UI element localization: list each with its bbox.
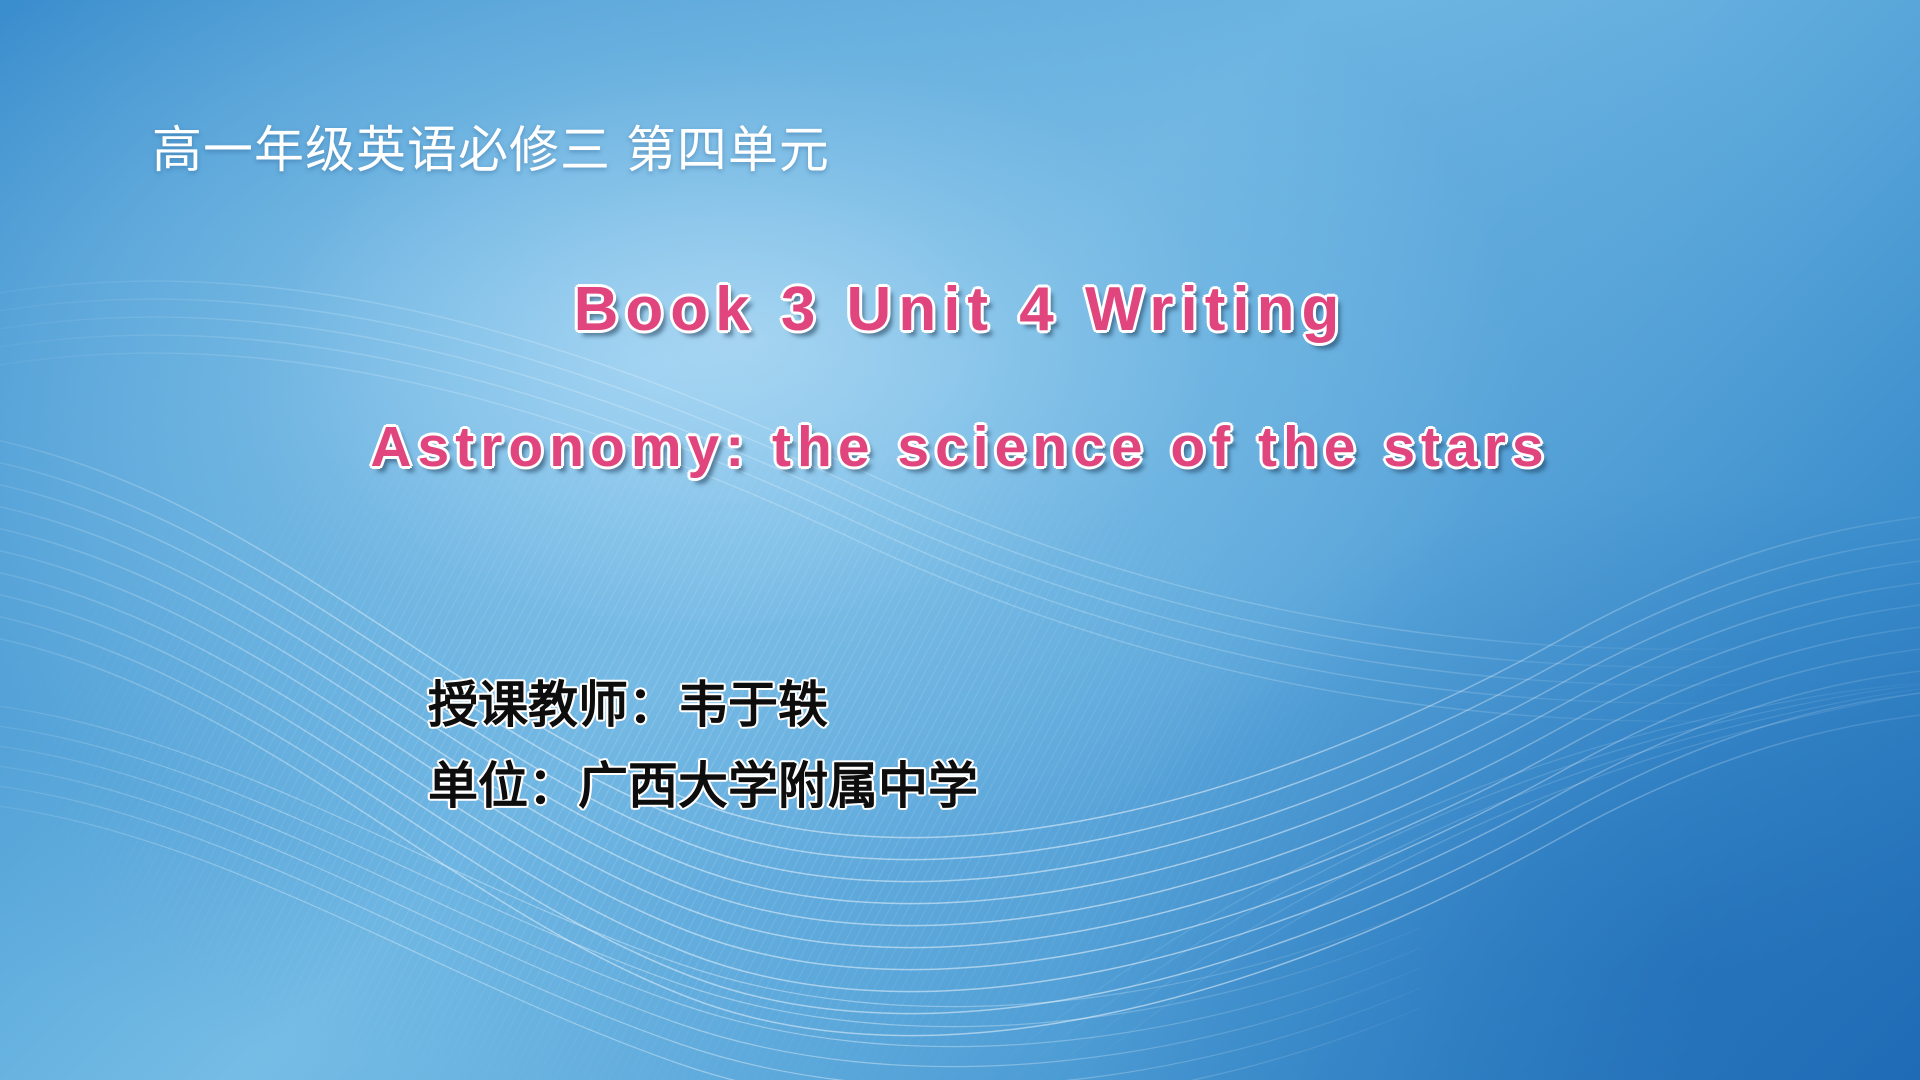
presentation-slide: 高一年级英语必修三 第四单元 Book 3 Unit 4 Writing Ast… (0, 0, 1920, 1080)
course-unit-label: 高一年级英语必修三 第四单元 (152, 120, 830, 180)
presenter-teacher-name: 授课教师：韦于轶 (428, 664, 978, 745)
page-subtitle: Astronomy: the science of the stars (0, 416, 1920, 479)
presenter-block: 授课教师：韦于轶 单位：广西大学附属中学 (428, 664, 978, 826)
page-title: Book 3 Unit 4 Writing (0, 276, 1920, 344)
title-block: Book 3 Unit 4 Writing Astronomy: the sci… (0, 276, 1920, 479)
presenter-affiliation: 单位：广西大学附属中学 (428, 745, 978, 826)
